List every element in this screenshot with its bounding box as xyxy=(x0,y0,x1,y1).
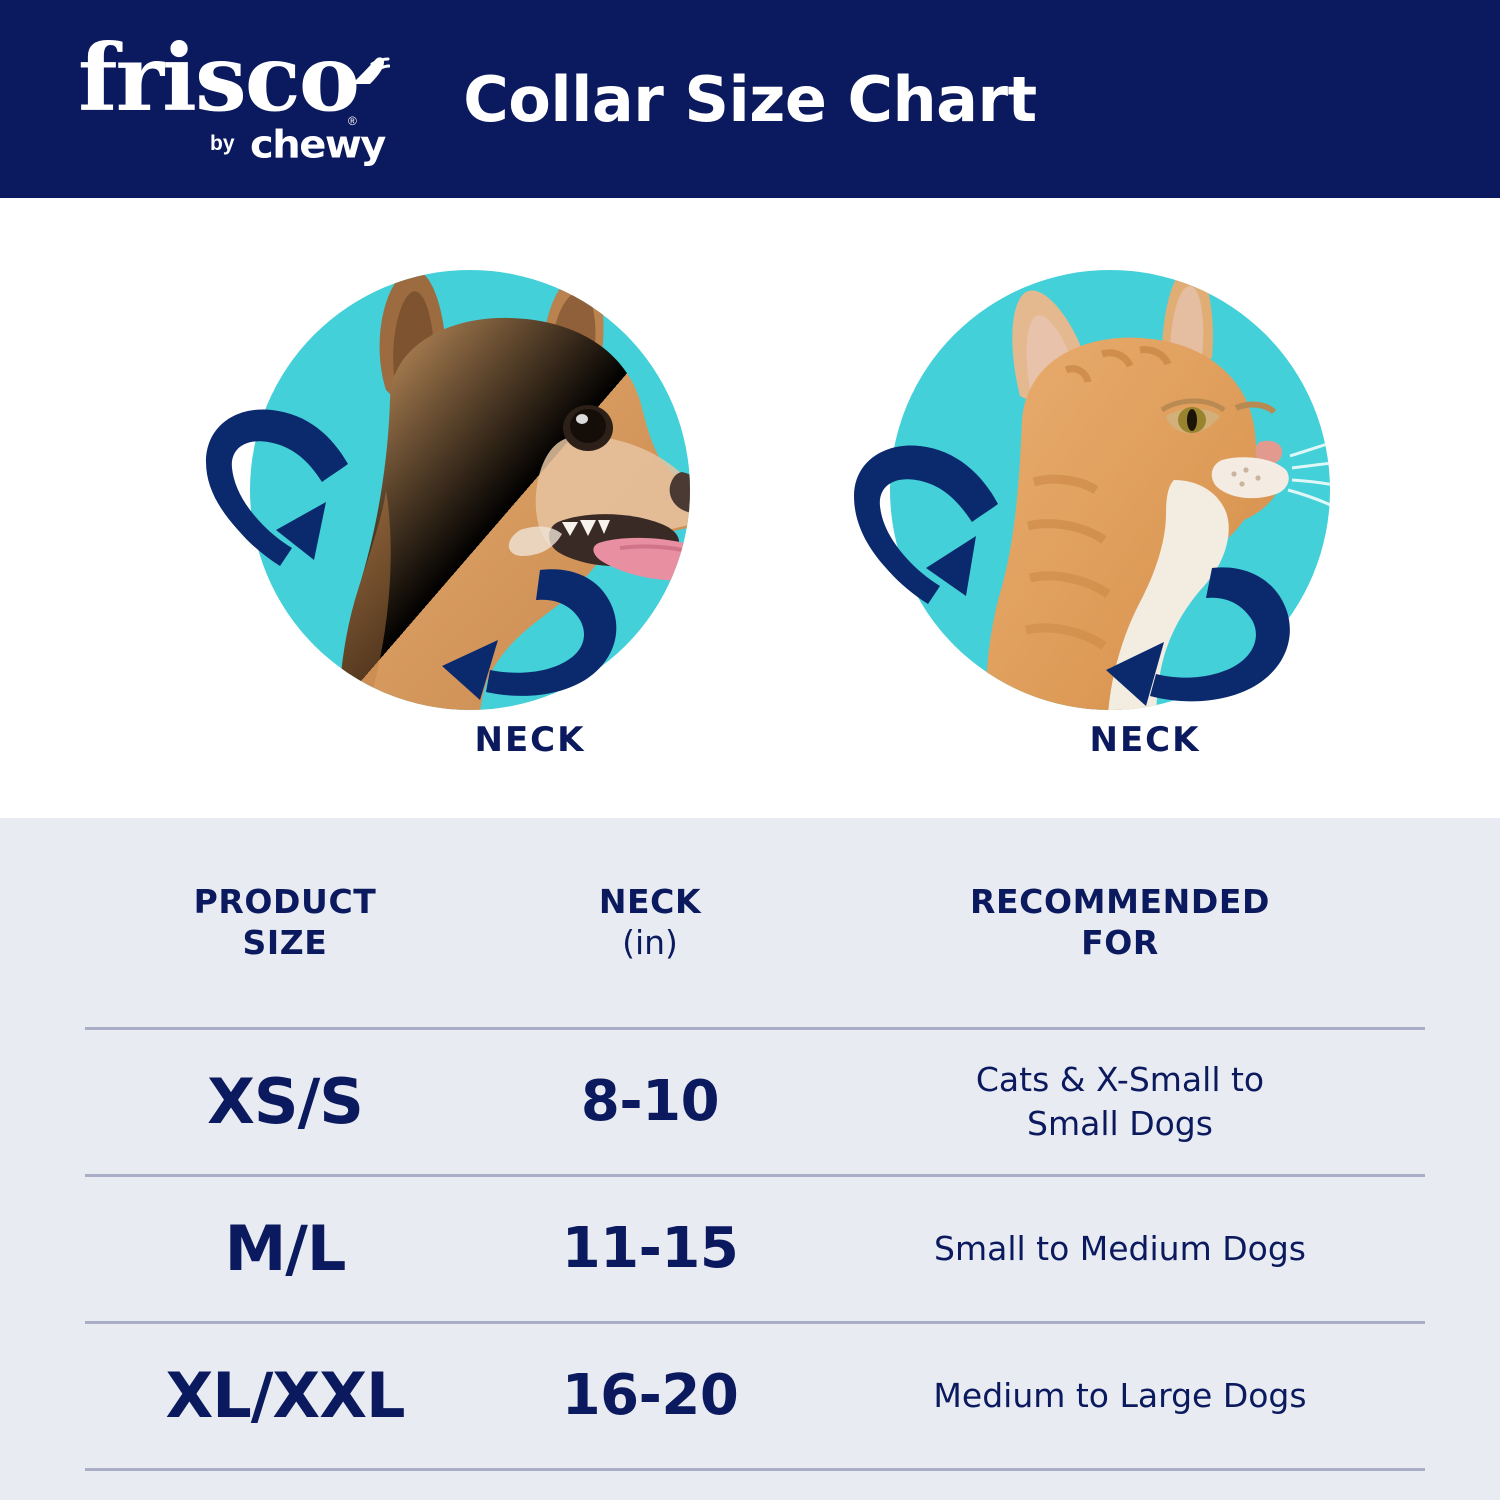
cat-circle-wrap xyxy=(890,270,1330,710)
cell-recommended-line1: Medium to Large Dogs xyxy=(815,1374,1425,1418)
column-header-product-size-line1: PRODUCT xyxy=(85,882,485,923)
table-row: XS/S 8-10 Cats & X-Small to Small Dogs xyxy=(85,1030,1425,1174)
cell-recommended-for: Small to Medium Dogs xyxy=(815,1227,1425,1271)
dog-head-photo xyxy=(190,230,750,750)
cell-neck: 8-10 xyxy=(485,1074,815,1130)
table-row: XL/XXL 16-20 Medium to Large Dogs xyxy=(85,1324,1425,1468)
column-header-recommended-line2: FOR xyxy=(815,923,1425,964)
table-header-row: PRODUCT SIZE NECK (in) RECOMMENDED FOR xyxy=(85,818,1425,1027)
column-header-recommended-line1: RECOMMENDED xyxy=(815,882,1425,923)
column-header-neck-unit: (in) xyxy=(485,923,815,964)
chewy-wordmark: chewy xyxy=(250,123,385,167)
dog-illustration-card: NECK xyxy=(160,198,720,818)
frisco-by-chewy-logo: frisco ® by chewy xyxy=(78,36,378,168)
cell-recommended-line1: Cats & X-Small to xyxy=(815,1058,1425,1102)
swoosh-icon xyxy=(346,54,390,98)
cell-product-size: XL/XXL xyxy=(85,1365,485,1427)
cell-recommended-line1: Small to Medium Dogs xyxy=(815,1227,1425,1271)
table-row: M/L 11-15 Small to Medium Dogs xyxy=(85,1177,1425,1321)
dog-neck-arrow-left xyxy=(206,409,348,566)
cat-neck-label: NECK xyxy=(835,720,1455,760)
cell-neck: 16-20 xyxy=(485,1368,815,1424)
dog-neck-label: NECK xyxy=(220,720,840,760)
logo-by-text: by xyxy=(210,132,235,156)
dog-circle-wrap xyxy=(250,270,690,710)
column-header-product-size: PRODUCT SIZE xyxy=(85,882,485,964)
cat-neck-arrow-left xyxy=(854,445,998,604)
column-header-neck-line1: NECK xyxy=(485,882,815,923)
table-divider-bottom xyxy=(85,1468,1425,1471)
cell-recommended-for: Medium to Large Dogs xyxy=(815,1374,1425,1418)
cell-product-size: XS/S xyxy=(85,1071,485,1133)
cell-neck: 11-15 xyxy=(485,1221,815,1277)
column-header-neck: NECK (in) xyxy=(485,882,815,964)
size-table-section: PRODUCT SIZE NECK (in) RECOMMENDED FOR X… xyxy=(0,818,1500,1500)
frisco-wordmark: frisco xyxy=(78,32,358,124)
collar-size-chart-page: frisco ® by chewy Collar Size Chart xyxy=(0,0,1500,1500)
cell-recommended-line2: Small Dogs xyxy=(815,1102,1425,1146)
column-header-recommended-for: RECOMMENDED FOR xyxy=(815,882,1425,964)
size-table: PRODUCT SIZE NECK (in) RECOMMENDED FOR X… xyxy=(85,818,1425,1471)
cell-recommended-for: Cats & X-Small to Small Dogs xyxy=(815,1058,1425,1145)
cat-head-photo xyxy=(830,230,1390,750)
column-header-product-size-line2: SIZE xyxy=(85,923,485,964)
cell-product-size: M/L xyxy=(85,1218,485,1280)
cat-illustration-card: NECK xyxy=(800,198,1360,818)
header-band: frisco ® by chewy Collar Size Chart xyxy=(0,0,1500,198)
illustration-area: NECK xyxy=(0,198,1500,818)
